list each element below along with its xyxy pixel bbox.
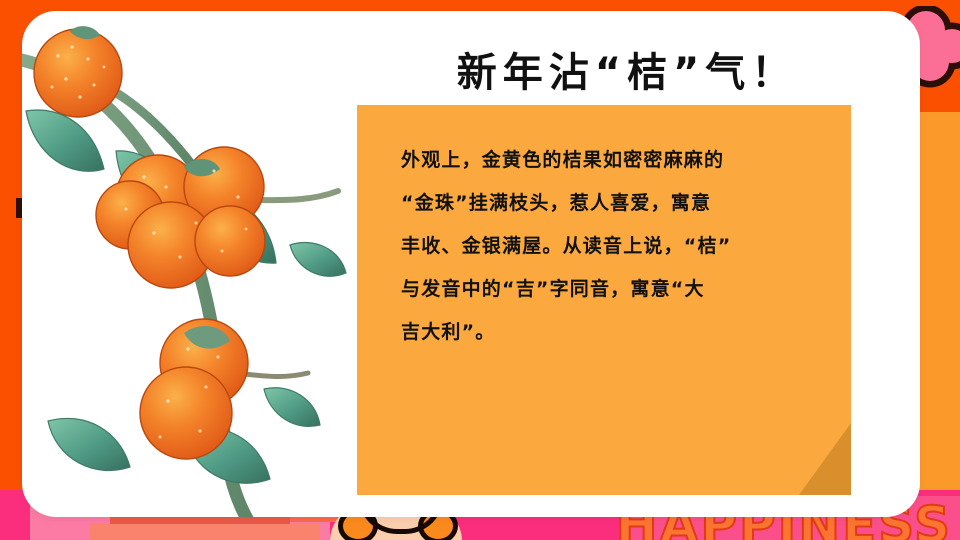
slide-canvas: HAPPINESS	[0, 0, 960, 540]
body-line: “金珠”挂满枝头，惹人喜爱，寓意	[401, 182, 821, 225]
body-text: 外观上，金黄色的桔果如密密麻麻的 “金珠”挂满枝头，惹人喜爱，寓意 丰收、金银满…	[401, 139, 821, 354]
body-line: 外观上，金黄色的桔果如密密麻麻的	[401, 139, 821, 182]
body-line: 与发音中的“吉”字同音，寓意“大	[401, 268, 821, 311]
content-note-wrapper: 外观上，金黄色的桔果如密密麻麻的 “金珠”挂满枝头，惹人喜爱，寓意 丰收、金银满…	[357, 105, 877, 505]
salmon-stripe-b	[90, 524, 320, 540]
body-line: 丰收、金银满屋。从读音上说，“桔”	[401, 225, 821, 268]
page-title: 新年沾“桔”气！	[362, 47, 892, 99]
body-line: 吉大利”。	[401, 311, 821, 354]
tangerine-illustration	[22, 11, 352, 517]
main-white-card: 新年沾“桔”气！ 外观上，金黄色的桔果如密密麻麻的 “金珠”挂满枝头，惹人喜爱，…	[22, 11, 920, 517]
